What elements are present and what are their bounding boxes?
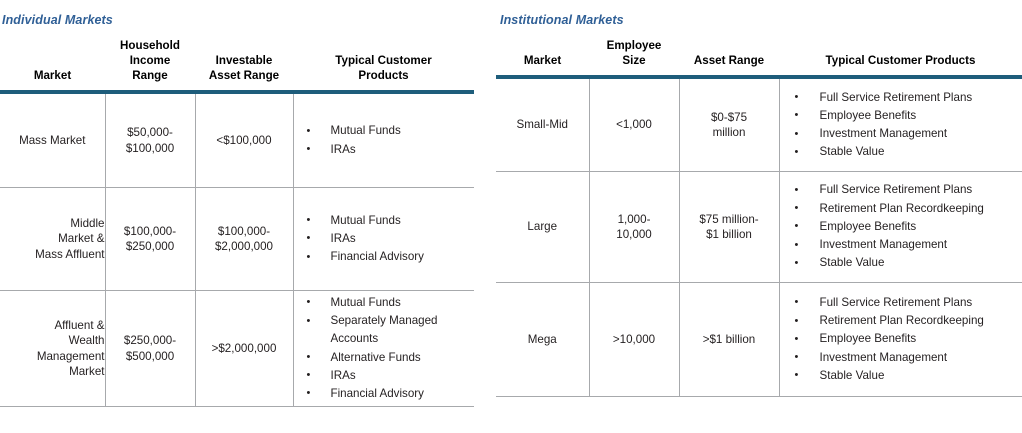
column-header-asset-range: Asset Range — [679, 38, 779, 77]
cell-market: Middle Market & Mass Affluent — [0, 188, 105, 291]
product-list-item: Full Service Retirement Plans — [780, 294, 1019, 312]
product-list: Mutual FundsSeparately Managed AccountsA… — [294, 294, 475, 403]
column-header-typical-customer-products: Typical Customer Products — [779, 38, 1022, 77]
column-header-household-income-range: Household Income Range — [105, 38, 195, 92]
cell-market: Affluent & Wealth Management Market — [0, 291, 105, 407]
product-list-item: Alternative Funds — [294, 349, 471, 367]
product-list-item: Retirement Plan Recordkeeping — [780, 200, 1019, 218]
column-header-employee-size: Employee Size — [589, 38, 679, 77]
product-list-item: IRAs — [294, 230, 471, 248]
product-list-item: Stable Value — [780, 143, 1019, 161]
cell-asset-range: >$1 billion — [679, 283, 779, 397]
cell-employee-size: 1,000- 10,000 — [589, 172, 679, 283]
table-row: Middle Market & Mass Affluent $100,000- … — [0, 188, 474, 291]
product-list: Mutual FundsIRAsFinancial Advisory — [294, 212, 475, 267]
product-list-item: Mutual Funds — [294, 212, 471, 230]
cell-investable-asset-range: >$2,000,000 — [195, 291, 293, 407]
table-row: Mass Market $50,000- $100,000 <$100,000 … — [0, 92, 474, 188]
cell-investable-asset-range: $100,000- $2,000,000 — [195, 188, 293, 291]
cell-market: Mega — [496, 283, 589, 397]
column-header-investable-asset-range: Investable Asset Range — [195, 38, 293, 92]
individual-markets-table: Market Household Income Range Investable… — [0, 38, 474, 407]
cell-typical-customer-products: Full Service Retirement PlansRetirement … — [779, 172, 1022, 283]
column-header-market: Market — [496, 38, 589, 77]
cell-market: Small-Mid — [496, 77, 589, 172]
product-list-item: Stable Value — [780, 367, 1019, 385]
cell-market: Mass Market — [0, 92, 105, 188]
product-list-item: Stable Value — [780, 254, 1019, 272]
product-list-item: Investment Management — [780, 236, 1019, 254]
table-row: Large 1,000- 10,000 $75 million- $1 bill… — [496, 172, 1022, 283]
product-list-item: Financial Advisory — [294, 248, 471, 266]
cell-typical-customer-products: Mutual FundsIRAs — [293, 92, 474, 188]
product-list-item: Employee Benefits — [780, 218, 1019, 236]
table-header-row: Market Employee Size Asset Range Typical… — [496, 38, 1022, 77]
product-list-item: Full Service Retirement Plans — [780, 181, 1019, 199]
product-list: Full Service Retirement PlansEmployee Be… — [780, 89, 1022, 162]
product-list: Full Service Retirement PlansRetirement … — [780, 181, 1022, 272]
cell-investable-asset-range: <$100,000 — [195, 92, 293, 188]
cell-employee-size: <1,000 — [589, 77, 679, 172]
column-header-market: Market — [0, 38, 105, 92]
cell-employee-size: >10,000 — [589, 283, 679, 397]
product-list-item: IRAs — [294, 367, 471, 385]
product-list-item: Mutual Funds — [294, 122, 471, 140]
product-list-item: Full Service Retirement Plans — [780, 89, 1019, 107]
individual-markets-title: Individual Markets — [2, 13, 113, 27]
product-list-item: Financial Advisory — [294, 385, 471, 403]
product-list-item: Retirement Plan Recordkeeping — [780, 312, 1019, 330]
cell-market: Large — [496, 172, 589, 283]
institutional-markets-title: Institutional Markets — [500, 13, 624, 27]
column-header-typical-customer-products: Typical Customer Products — [293, 38, 474, 92]
product-list: Mutual FundsIRAs — [294, 122, 475, 158]
product-list-item: Employee Benefits — [780, 330, 1019, 348]
product-list-item: Investment Management — [780, 349, 1019, 367]
cell-asset-range: $0-$75 million — [679, 77, 779, 172]
table-row: Affluent & Wealth Management Market $250… — [0, 291, 474, 407]
cell-typical-customer-products: Mutual FundsSeparately Managed AccountsA… — [293, 291, 474, 407]
cell-asset-range: $75 million- $1 billion — [679, 172, 779, 283]
cell-typical-customer-products: Full Service Retirement PlansEmployee Be… — [779, 77, 1022, 172]
product-list-item: Investment Management — [780, 125, 1019, 143]
cell-typical-customer-products: Full Service Retirement PlansRetirement … — [779, 283, 1022, 397]
product-list-item: IRAs — [294, 141, 471, 159]
product-list-item: Employee Benefits — [780, 107, 1019, 125]
market-segmentation-page: Individual Markets Market Household Inco… — [0, 0, 1022, 433]
product-list-item: Mutual Funds — [294, 294, 471, 312]
table-header-row: Market Household Income Range Investable… — [0, 38, 474, 92]
cell-household-income-range: $100,000- $250,000 — [105, 188, 195, 291]
cell-household-income-range: $50,000- $100,000 — [105, 92, 195, 188]
table-row: Small-Mid <1,000 $0-$75 million Full Ser… — [496, 77, 1022, 172]
cell-typical-customer-products: Mutual FundsIRAsFinancial Advisory — [293, 188, 474, 291]
table-row: Mega >10,000 >$1 billion Full Service Re… — [496, 283, 1022, 397]
product-list-item: Separately Managed Accounts — [294, 312, 471, 348]
institutional-markets-table: Market Employee Size Asset Range Typical… — [496, 38, 1022, 397]
product-list: Full Service Retirement PlansRetirement … — [780, 294, 1022, 385]
cell-household-income-range: $250,000- $500,000 — [105, 291, 195, 407]
